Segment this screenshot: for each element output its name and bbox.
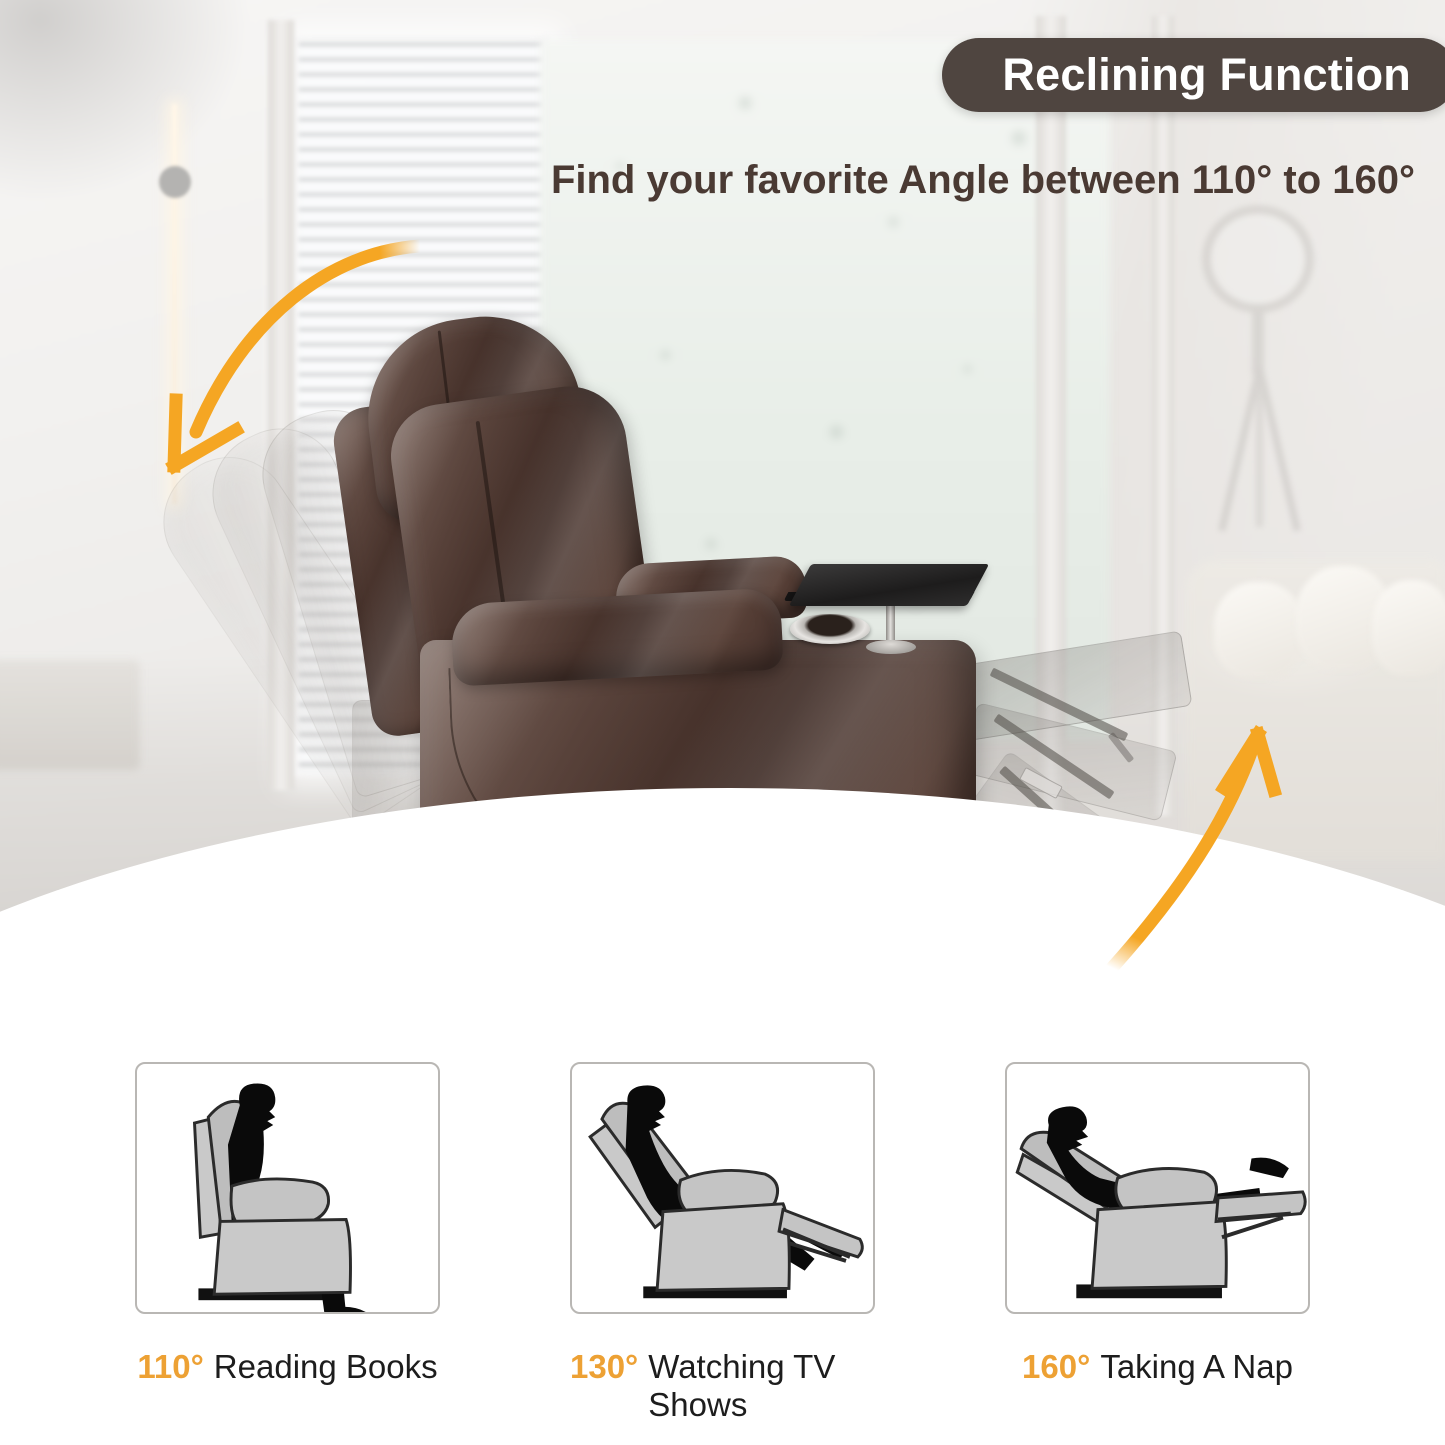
title-badge: Reclining Function — [942, 38, 1445, 112]
caption-130: 130° Watching TV Shows — [570, 1348, 875, 1418]
recliner-flat-icon — [1007, 1064, 1308, 1312]
caption-label-130: Watching TV Shows — [648, 1348, 875, 1424]
white-bottom-fill — [0, 1040, 1445, 1045]
position-card-110 — [135, 1062, 440, 1314]
caption-label-110: Reading Books — [214, 1348, 438, 1386]
position-captions: 110° Reading Books 130° Watching TV Show… — [0, 1348, 1445, 1418]
caption-degrees-130: 130° — [570, 1348, 638, 1386]
swivel-tray-table — [789, 564, 989, 606]
title-badge-label: Reclining Function — [1002, 49, 1411, 101]
hero-photo: Reclining Function Find your favorite An… — [0, 0, 1445, 1045]
armrest-top-bolster — [450, 587, 784, 686]
recliner-upright-icon — [137, 1064, 438, 1312]
position-cards — [0, 1062, 1445, 1322]
position-card-130 — [570, 1062, 875, 1314]
recliner-reclined-icon — [572, 1064, 873, 1312]
cup-holder — [790, 614, 870, 644]
caption-160: 160° Taking A Nap — [1005, 1348, 1310, 1418]
tray-table-base — [866, 640, 916, 654]
caption-label-160: Taking A Nap — [1100, 1348, 1293, 1386]
caption-110: 110° Reading Books — [135, 1348, 440, 1418]
caption-degrees-110: 110° — [137, 1348, 203, 1386]
product-feature-page: Reclining Function Find your favorite An… — [0, 0, 1445, 1445]
position-card-160 — [1005, 1062, 1310, 1314]
caption-degrees-160: 160° — [1022, 1348, 1090, 1386]
subtitle-text: Find your favorite Angle between 110° to… — [0, 158, 1415, 203]
